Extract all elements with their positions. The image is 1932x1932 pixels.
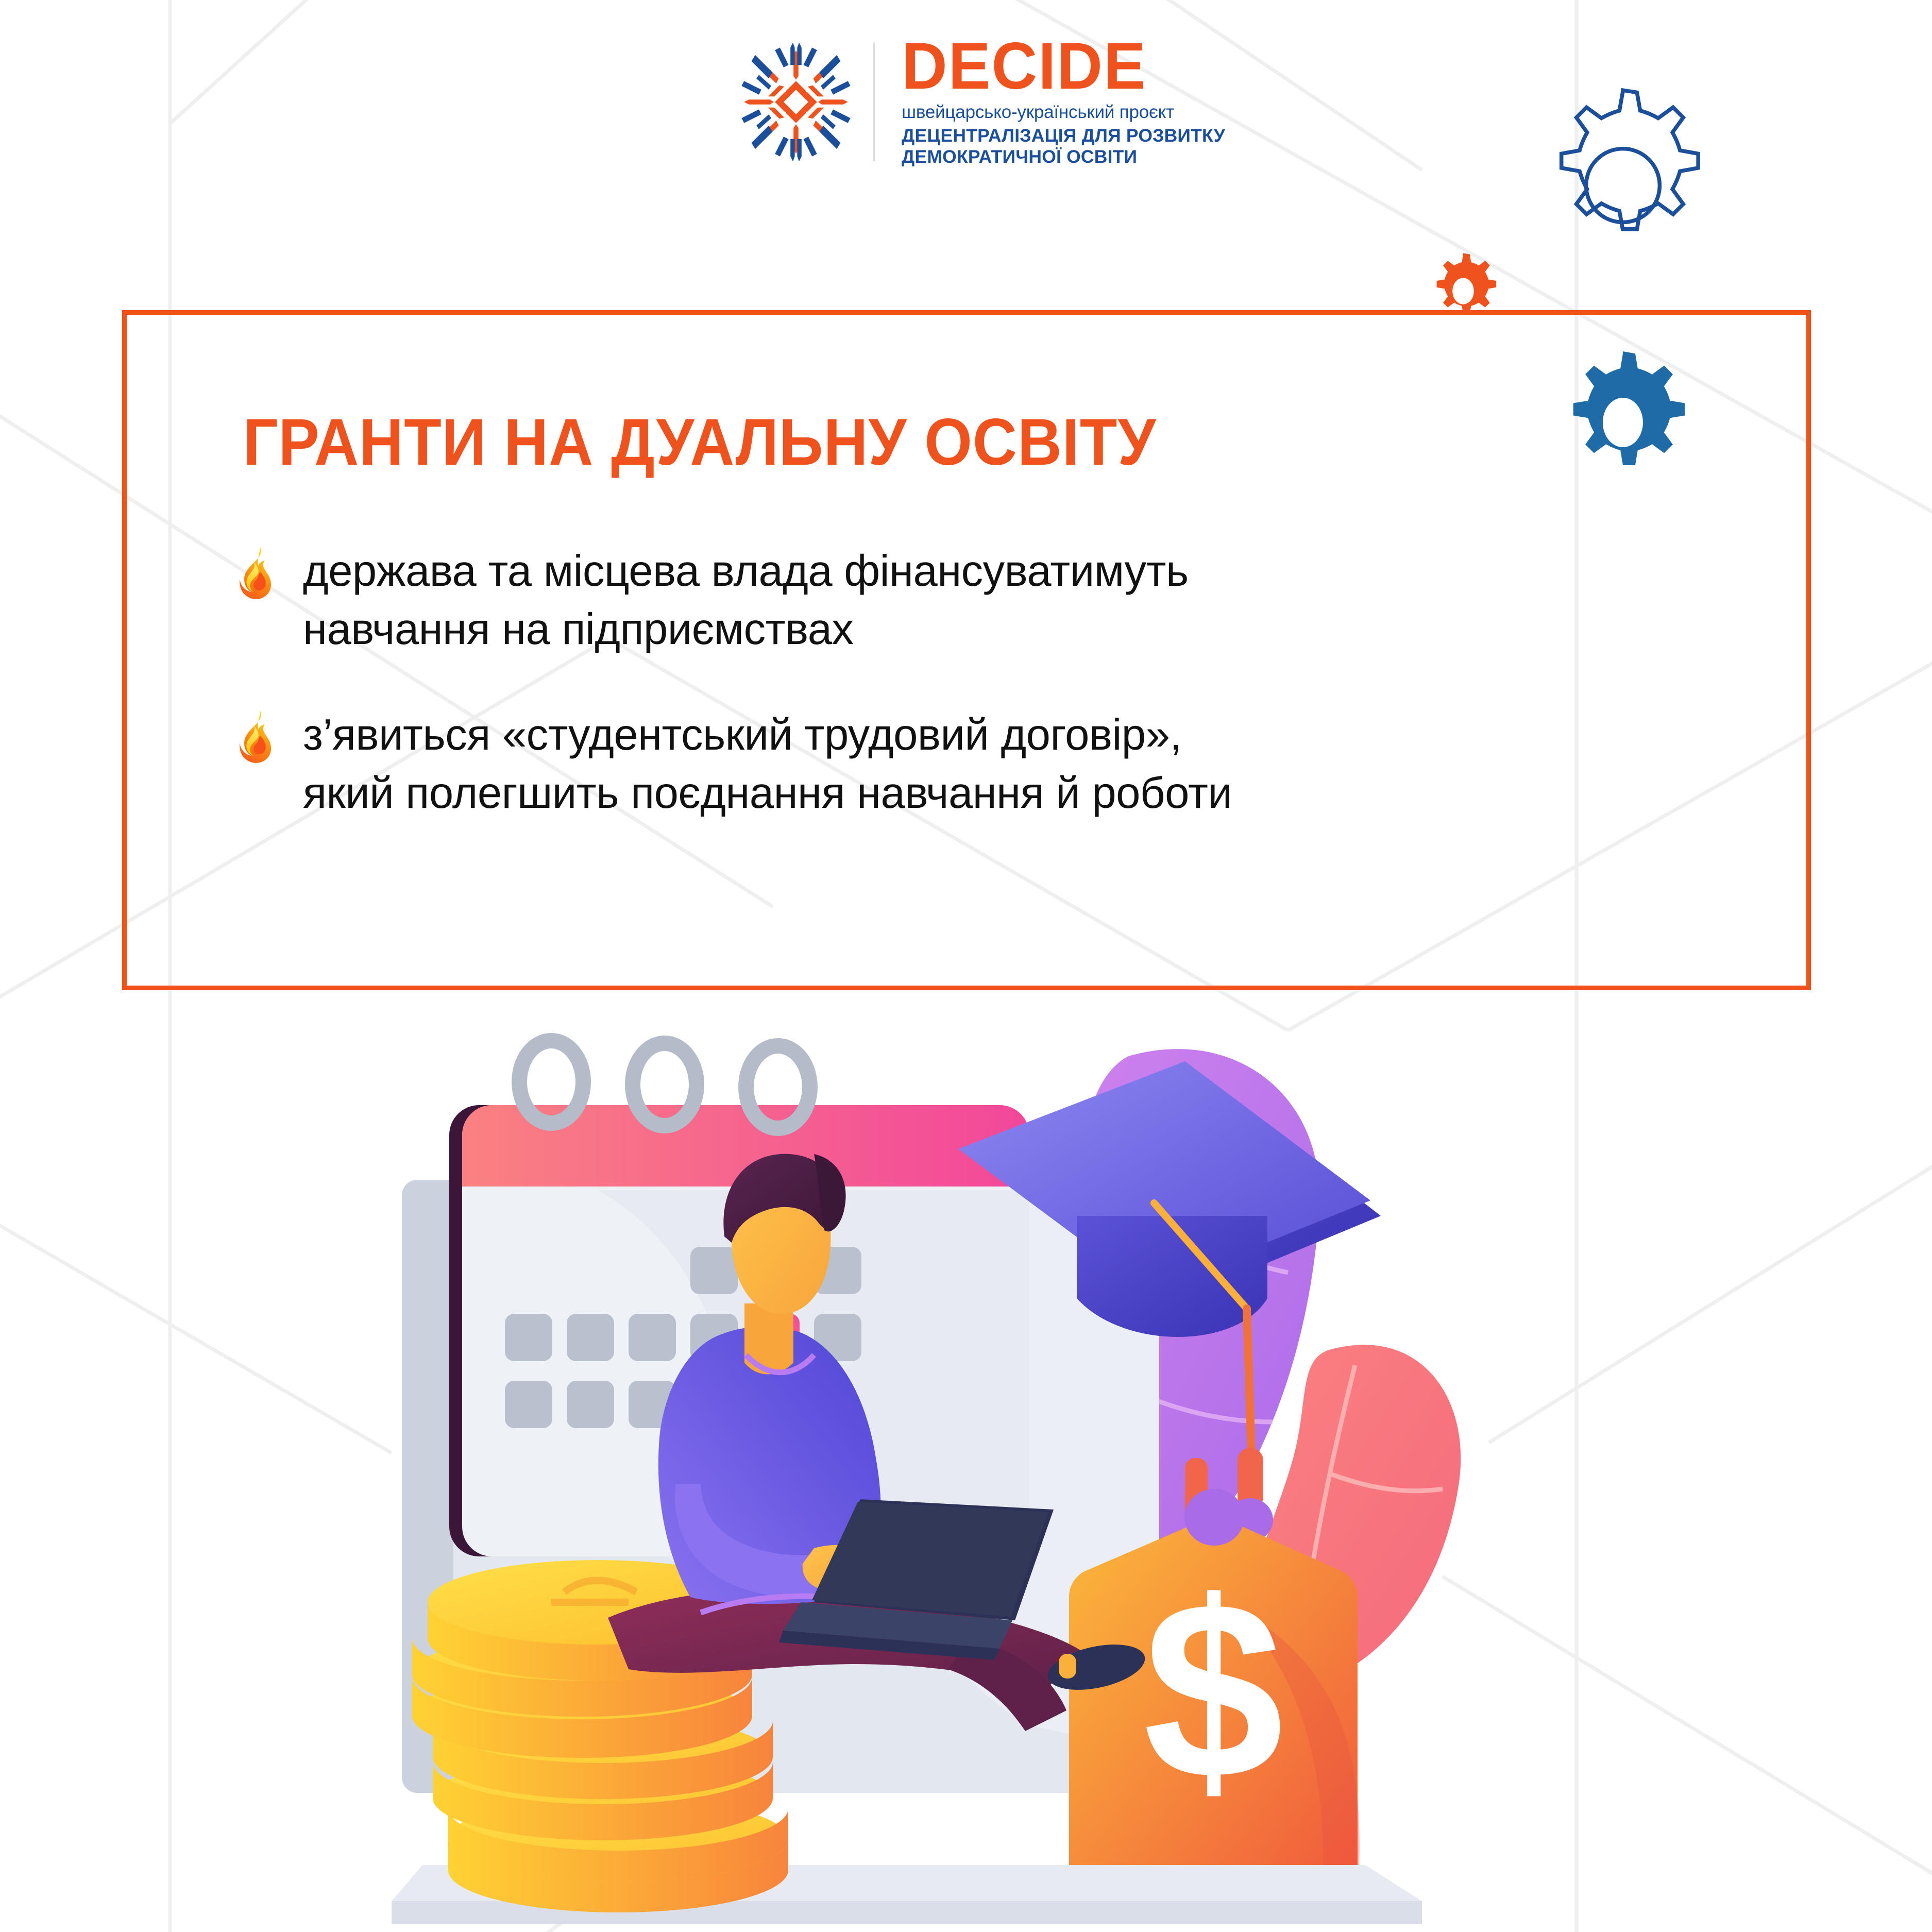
logo-tagline-line1: ДЕЦЕНТРАЛІЗАЦІЯ ДЛЯ РОЗВИТКУ	[902, 125, 1225, 146]
fire-emoji-icon	[231, 709, 289, 767]
list-item-text: з’явиться «студентський трудовий договір…	[289, 706, 1232, 822]
page-title: ГРАНТИ НА ДУАЛЬНУ ОСВІТУ	[243, 404, 1156, 480]
list-item-line: з’явиться «студентський трудовий договір…	[303, 706, 1232, 764]
logo-wordmark-block: DECIDE швейцарсько-український проєкт ДЕ…	[888, 36, 1225, 167]
list-item: з’явиться «студентський трудовий договір…	[231, 706, 1766, 822]
list-item-line: навчання на підприємствах	[303, 600, 1189, 658]
bullet-list: держава та місцева влада фінансуватимуть…	[231, 542, 1766, 870]
brand-logo: DECIDE швейцарсько-український проєкт ДЕ…	[734, 36, 1225, 167]
gear-outline-large-icon	[1515, 77, 1731, 294]
logo-wordmark: DECIDE	[902, 36, 1212, 97]
logo-divider	[873, 43, 875, 161]
fire-emoji-icon	[231, 545, 289, 603]
logo-tagline-line2: ДЕМОКРАТИЧНОЇ ОСВІТИ	[902, 146, 1225, 167]
student-funding-illustration: $	[361, 994, 1597, 1932]
gear-medium-blue-icon	[1546, 345, 1700, 500]
decide-snowflake-ornament-icon	[734, 38, 858, 166]
list-item-line: держава та місцева влада фінансуватимуть	[303, 542, 1189, 600]
list-item-line: який полегшить поєднання навчання й робо…	[303, 764, 1232, 822]
logo-tagline-project: швейцарсько-український проєкт	[902, 102, 1225, 123]
list-item-text: держава та місцева влада фінансуватимуть…	[289, 542, 1189, 658]
list-item: держава та місцева влада фінансуватимуть…	[231, 542, 1766, 658]
dollar-symbol: $	[1143, 1549, 1284, 1831]
gear-small-orange-icon	[1422, 250, 1504, 332]
poster-canvas: DECIDE швейцарсько-український проєкт ДЕ…	[0, 0, 1932, 1932]
